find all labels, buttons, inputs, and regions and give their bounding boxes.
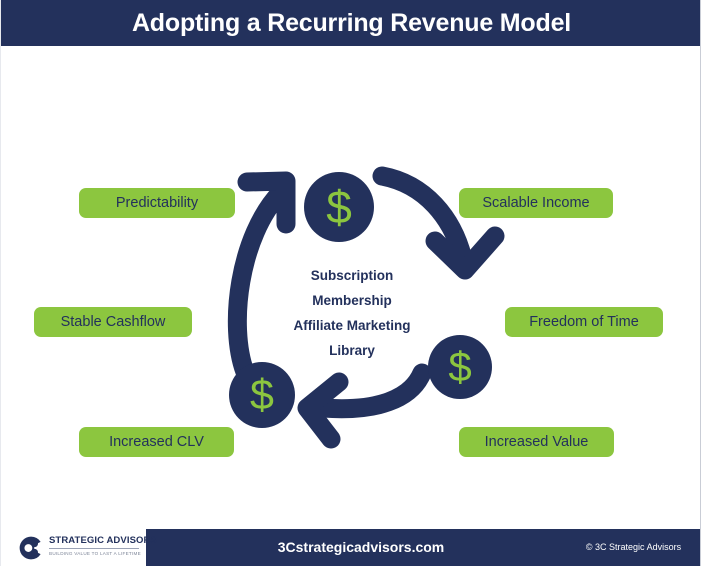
benefit-pill-label: Freedom of Time (529, 314, 639, 330)
logo-text-block: STRATEGIC ADVISORS BUILDING VALUE TO LAS… (49, 535, 141, 556)
benefit-pill-increased-value: Increased Value (459, 427, 614, 457)
benefit-pill-label: Increased Value (485, 434, 589, 450)
logo-tagline: BUILDING VALUE TO LAST A LIFETIME (49, 551, 141, 556)
company-logo: STRATEGIC ADVISORS BUILDING VALUE TO LAS… (17, 532, 141, 564)
dollar-icon: $ (326, 184, 352, 230)
logo-mark-icon (17, 534, 45, 562)
slide-canvas: Adopting a Recurring Revenue Model $ (0, 0, 701, 566)
dollar-circle-left: $ (229, 362, 295, 428)
diagram-area: $ $ $ Subscription Membership Affiliate … (1, 46, 701, 508)
footer-website-url[interactable]: 3Cstrategicadvisors.com (146, 529, 576, 566)
benefit-pill-predictability: Predictability (79, 188, 235, 218)
revenue-model-item-membership: Membership (259, 293, 445, 308)
title-bar: Adopting a Recurring Revenue Model (1, 0, 701, 46)
benefit-pill-label: Stable Cashflow (61, 314, 166, 330)
benefit-pill-stable-cashflow: Stable Cashflow (34, 307, 192, 337)
benefit-pill-label: Predictability (116, 195, 198, 211)
benefit-pill-freedom-of-time: Freedom of Time (505, 307, 663, 337)
benefit-pill-label: Increased CLV (109, 434, 204, 450)
page-title: Adopting a Recurring Revenue Model (1, 0, 701, 46)
logo-company-name: STRATEGIC ADVISORS (49, 535, 141, 546)
revenue-model-item-subscription: Subscription (259, 268, 445, 283)
revenue-model-item-library: Library (259, 343, 445, 358)
dollar-icon: $ (250, 374, 274, 417)
logo-divider (49, 548, 139, 549)
dollar-icon: $ (448, 346, 471, 388)
benefit-pill-label: Scalable Income (482, 195, 589, 211)
revenue-model-list: Subscription Membership Affiliate Market… (259, 268, 445, 358)
benefit-pill-increased-clv: Increased CLV (79, 427, 234, 457)
footer-copyright: © 3C Strategic Advisors (571, 529, 696, 566)
footer: 3Cstrategicadvisors.com © 3C Strategic A… (1, 508, 701, 566)
arrow-bottom-left-icon (307, 373, 422, 439)
dollar-circle-top: $ (304, 172, 374, 242)
revenue-model-item-affiliate-marketing: Affiliate Marketing (259, 318, 445, 333)
benefit-pill-scalable-income: Scalable Income (459, 188, 613, 218)
